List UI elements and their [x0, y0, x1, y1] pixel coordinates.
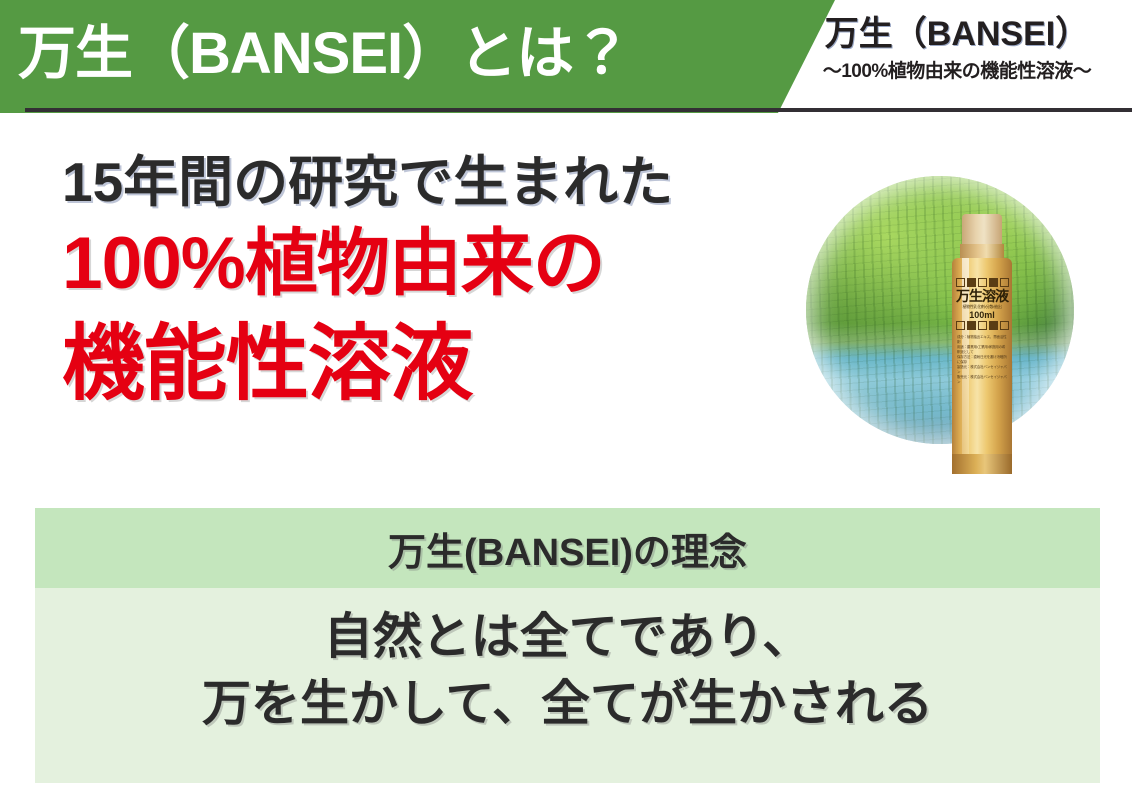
philosophy-header-title: 万生(BANSEI)の理念: [388, 521, 747, 576]
label-square: [1000, 321, 1009, 330]
bottle-base: [952, 454, 1012, 474]
label-square: [967, 278, 976, 287]
headline-line-1: 15年間の研究で生まれた: [62, 148, 782, 216]
page-title: 万生（BANSEI）とは？: [18, 6, 630, 102]
label-square: [1000, 278, 1009, 287]
philosophy-panel-header: 万生(BANSEI)の理念: [35, 508, 1100, 588]
photo-vignette: [806, 176, 1074, 444]
philosophy-line-2: 万を生かして、全てが生かされる: [35, 671, 1100, 738]
label-decoration-bottom: [952, 321, 1012, 330]
label-square: [978, 321, 987, 330]
bottle-cap: [962, 214, 1002, 246]
philosophy-panel: 万生(BANSEI)の理念 自然とは全てであり、 万を生かして、全てが生かされる: [35, 508, 1100, 783]
headline-line-3: 機能性溶液: [62, 312, 782, 416]
page-header-banner: 万生（BANSEI）とは？: [0, 0, 835, 113]
label-square: [989, 321, 998, 330]
headline-line-2: 100%植物由来の: [62, 216, 782, 312]
label-square: [956, 321, 965, 330]
brand-logo: 万生（BANSEI） 〜100%植物由来の機能性溶液〜: [782, 0, 1132, 118]
label-square: [989, 278, 998, 287]
brand-logo-name: 万生（BANSEI）: [782, 6, 1132, 55]
label-square: [978, 278, 987, 287]
bottle-product-name: 万生溶液: [952, 289, 1012, 304]
product-photo: 万生溶液 植物性乳化剤・分散・抽出 100ml 成分：植物抽出エキス、界面活性剤…: [806, 176, 1074, 444]
brand-logo-tagline: 〜100%植物由来の機能性溶液〜: [782, 56, 1132, 83]
label-decoration-top: [952, 278, 1012, 287]
header-divider-rule: [25, 108, 1132, 112]
product-bottle: 万生溶液 植物性乳化剤・分散・抽出 100ml 成分：植物抽出エキス、界面活性剤…: [948, 214, 1014, 474]
bottle-fine-print: 成分：植物抽出エキス、界面活性剤用途：農業用・工業用・家庭用の希釈液として保存方…: [952, 335, 1012, 385]
philosophy-panel-body: 自然とは全てであり、 万を生かして、全てが生かされる: [35, 588, 1100, 738]
main-headline: 15年間の研究で生まれた 100%植物由来の 機能性溶液: [62, 148, 782, 416]
philosophy-line-1: 自然とは全てであり、: [35, 604, 1100, 671]
bottle-body: 万生溶液 植物性乳化剤・分散・抽出 100ml 成分：植物抽出エキス、界面活性剤…: [952, 258, 1012, 474]
bottle-volume: 100ml: [952, 310, 1012, 321]
label-square: [956, 278, 965, 287]
bottle-label: 万生溶液 植物性乳化剤・分散・抽出 100ml 成分：植物抽出エキス、界面活性剤…: [952, 278, 1012, 385]
label-square: [967, 321, 976, 330]
